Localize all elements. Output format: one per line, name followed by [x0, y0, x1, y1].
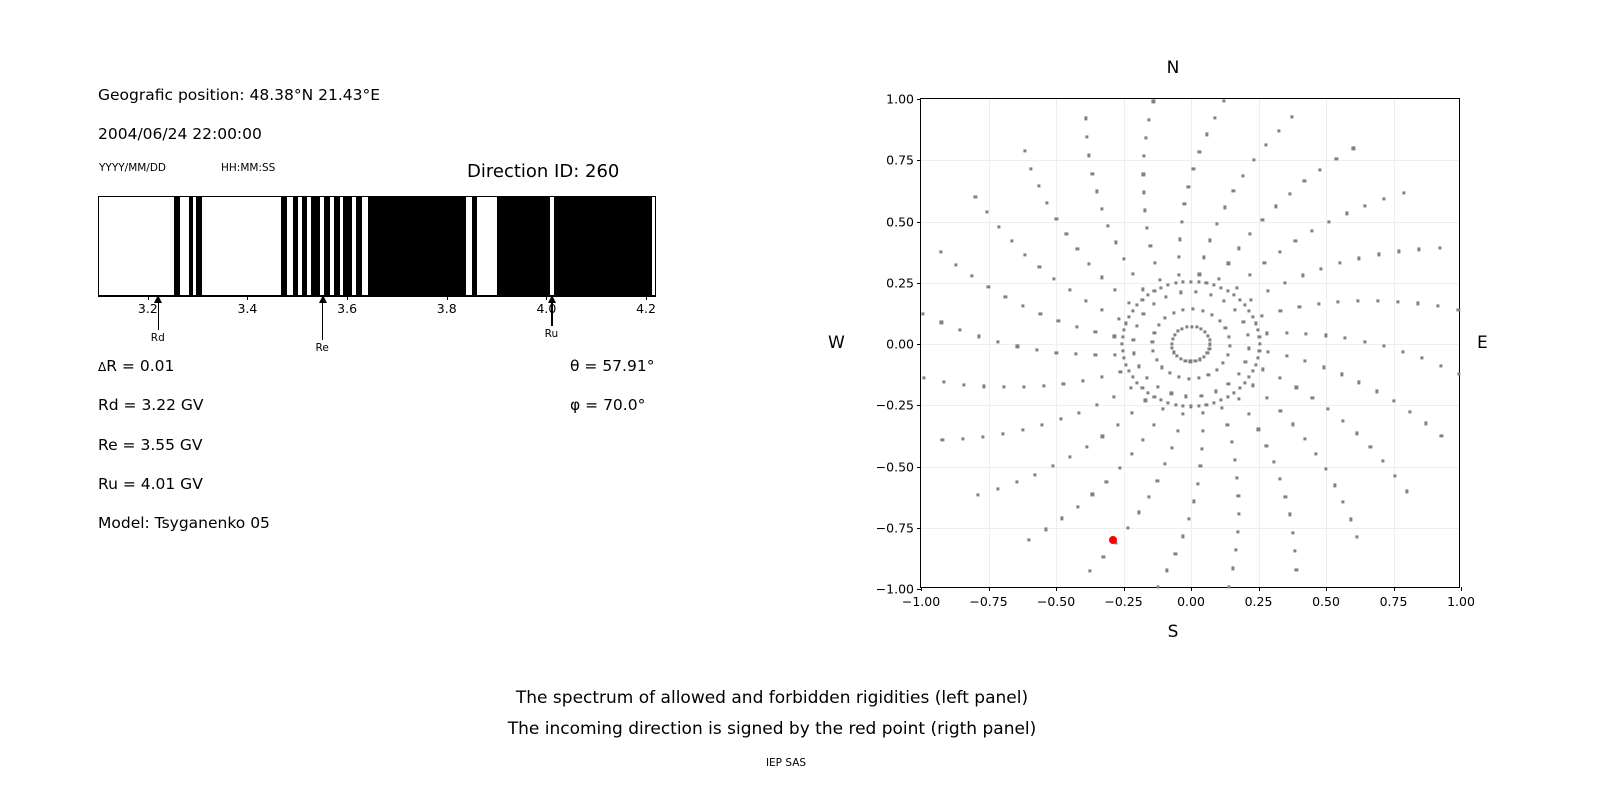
asymptotic-direction-panel: −1.00−0.75−0.50−0.250.000.250.500.751.00…	[0, 0, 1600, 660]
direction-dot	[1230, 441, 1233, 444]
direction-dot	[1185, 325, 1188, 328]
direction-dot	[1236, 530, 1239, 533]
direction-dot	[1136, 303, 1139, 306]
gridline-vertical	[1191, 99, 1192, 587]
plot-y-tick-label: 0.00	[886, 337, 914, 352]
direction-dot	[1114, 241, 1117, 244]
plot-y-tick-label: 0.50	[886, 214, 914, 229]
direction-dot	[1200, 327, 1203, 330]
direction-dot	[1244, 360, 1247, 363]
direction-dot	[1152, 100, 1155, 103]
direction-dot	[1122, 329, 1125, 332]
direction-dot	[1069, 455, 1072, 458]
direction-dot	[1131, 309, 1134, 312]
direction-dot	[1179, 291, 1182, 294]
direction-dot	[1198, 273, 1201, 276]
plot-x-tick	[1124, 587, 1125, 591]
direction-dot	[942, 380, 945, 383]
direction-dot	[1131, 376, 1134, 379]
direction-dot	[1144, 399, 1147, 402]
direction-dot	[1207, 374, 1210, 377]
direction-dot	[1291, 423, 1294, 426]
direction-dot	[1076, 505, 1079, 508]
direction-dot	[1084, 299, 1087, 302]
direction-dot	[1203, 256, 1206, 259]
direction-dot	[1200, 394, 1203, 397]
direction-dot	[1278, 478, 1281, 481]
direction-dot	[1257, 428, 1260, 431]
direction-dot	[1219, 286, 1222, 289]
direction-dot	[1238, 387, 1241, 390]
direction-dot	[1161, 366, 1164, 369]
direction-dot	[1153, 290, 1156, 293]
direction-dot	[1197, 404, 1200, 407]
direction-dot	[1180, 220, 1183, 223]
direction-dot	[1215, 222, 1218, 225]
direction-dot	[1394, 474, 1397, 477]
caption-line-2: The incoming direction is signed by the …	[508, 719, 1037, 739]
direction-dot	[1222, 99, 1225, 102]
direction-dot	[1196, 482, 1199, 485]
direction-dot	[1201, 412, 1204, 415]
direction-dot	[1201, 309, 1204, 312]
direction-dot	[1044, 528, 1047, 531]
direction-dot	[1168, 372, 1171, 375]
direction-dot	[1137, 511, 1140, 514]
plot-x-tick	[1191, 587, 1192, 591]
direction-dot	[1358, 257, 1361, 260]
direction-dot	[1209, 343, 1212, 346]
direction-dot	[1278, 250, 1281, 253]
direction-dot	[1176, 330, 1179, 333]
direction-dot	[1227, 335, 1230, 338]
direction-dot	[1127, 370, 1130, 373]
direction-dot	[1227, 585, 1230, 588]
direction-dot	[1358, 381, 1361, 384]
direction-dot	[1248, 376, 1251, 379]
direction-dot	[1317, 303, 1320, 306]
direction-dot	[1077, 411, 1080, 414]
direction-dot	[1095, 403, 1098, 406]
direction-dot	[1034, 473, 1037, 476]
direction-dot	[1085, 446, 1088, 449]
direction-dot	[1147, 495, 1150, 498]
direction-dot	[1352, 147, 1355, 150]
direction-dot	[1232, 190, 1235, 193]
direction-dot	[1094, 353, 1097, 356]
direction-dot	[1178, 273, 1181, 276]
direction-dot	[1238, 397, 1241, 400]
direction-dot	[1234, 308, 1237, 311]
direction-dot	[997, 225, 1000, 228]
plot-x-tick	[1259, 587, 1260, 591]
direction-dot	[1416, 302, 1419, 305]
direction-dot	[1074, 353, 1077, 356]
direction-dot	[1285, 354, 1288, 357]
direction-dot	[1242, 174, 1245, 177]
direction-dot	[1408, 410, 1411, 413]
direction-dot	[1206, 334, 1209, 337]
direction-dot	[1228, 344, 1231, 347]
plot-x-tick-label: 0.00	[1177, 594, 1205, 609]
direction-dot	[1284, 281, 1287, 284]
direction-dot	[1181, 535, 1184, 538]
direction-dot	[1145, 376, 1148, 379]
direction-dot	[1121, 349, 1124, 352]
direction-dot	[1438, 247, 1441, 250]
direction-dot	[939, 251, 942, 254]
direction-dot	[987, 285, 990, 288]
direction-dot	[1266, 332, 1269, 335]
direction-dot	[1324, 468, 1327, 471]
direction-dot	[1213, 116, 1216, 119]
direction-dot	[1142, 438, 1145, 441]
direction-dot	[1311, 396, 1314, 399]
direction-dot	[1344, 336, 1347, 339]
direction-dot	[1023, 149, 1026, 152]
direction-dot	[1197, 280, 1200, 283]
direction-dot	[1126, 526, 1129, 529]
direction-dot	[1153, 261, 1156, 264]
direction-dot	[941, 438, 944, 441]
direction-dot	[1232, 294, 1235, 297]
direction-dot	[1116, 424, 1119, 427]
direction-dot	[1349, 518, 1352, 521]
direction-dot	[1187, 185, 1190, 188]
direction-dot	[1266, 290, 1269, 293]
direction-dot	[974, 195, 977, 198]
direction-dot	[1203, 355, 1206, 358]
gridline-horizontal	[921, 222, 1459, 223]
direction-dot	[1376, 299, 1379, 302]
direction-dot	[1042, 384, 1045, 387]
direction-dot	[1236, 476, 1239, 479]
direction-dot	[1227, 382, 1230, 385]
direction-dot	[1424, 422, 1427, 425]
direction-dot	[1206, 352, 1209, 355]
direction-dot	[1184, 359, 1187, 362]
direction-dot	[1294, 239, 1297, 242]
direction-dot	[977, 493, 980, 496]
direction-dot	[1324, 334, 1327, 337]
direction-dot	[1164, 316, 1167, 319]
direction-dot	[1176, 429, 1179, 432]
direction-dot	[1263, 261, 1266, 264]
direction-dot	[1170, 342, 1173, 345]
direction-dot	[1249, 232, 1252, 235]
direction-dot	[1355, 432, 1358, 435]
direction-dot	[1254, 363, 1257, 366]
direction-dot	[1257, 356, 1260, 359]
direction-dot	[1205, 133, 1208, 136]
direction-dot	[1173, 333, 1176, 336]
plot-y-tick	[917, 589, 921, 590]
plot-x-tick	[989, 587, 990, 591]
direction-dot	[1095, 190, 1098, 193]
direction-dot	[1237, 494, 1240, 497]
plot-y-tick-label: 0.25	[886, 275, 914, 290]
direction-dot	[1088, 262, 1091, 265]
direction-dot	[1340, 373, 1343, 376]
direction-dot	[1249, 273, 1252, 276]
direction-dot	[1016, 345, 1019, 348]
direction-dot	[1181, 308, 1184, 311]
direction-dot	[1094, 330, 1097, 333]
direction-dot	[1174, 281, 1177, 284]
direction-dot	[1252, 159, 1255, 162]
direction-dot	[1457, 372, 1460, 375]
direction-dot	[1237, 247, 1240, 250]
direction-dot	[1420, 357, 1423, 360]
direction-dot	[1178, 238, 1181, 241]
plot-y-tick-label: −0.75	[876, 520, 914, 535]
direction-dot	[1226, 353, 1229, 356]
direction-dot	[1192, 167, 1195, 170]
direction-dot	[1062, 382, 1065, 385]
direction-dot	[1113, 335, 1116, 338]
direction-dot	[1182, 404, 1185, 407]
direction-dot	[1136, 381, 1139, 384]
direction-dot	[1130, 411, 1133, 414]
direction-dot	[1182, 280, 1185, 283]
direction-dot	[1081, 379, 1084, 382]
plot-y-tick-label: −1.00	[876, 582, 914, 597]
plot-y-tick-label: 1.00	[886, 92, 914, 107]
direction-dot	[1383, 197, 1386, 200]
direction-dot	[1131, 273, 1134, 276]
direction-dot	[1102, 556, 1105, 559]
direction-dot	[1291, 115, 1294, 118]
direction-dot	[997, 340, 1000, 343]
direction-dot	[1060, 517, 1063, 520]
incoming-direction-red-point	[1109, 536, 1117, 544]
direction-dot	[1260, 314, 1263, 317]
direction-dot	[1224, 327, 1227, 330]
direction-dot	[1059, 417, 1062, 420]
direction-dot	[1118, 317, 1121, 320]
direction-dot	[1248, 412, 1251, 415]
direction-dot	[1143, 209, 1146, 212]
direction-dot	[1160, 399, 1163, 402]
direction-dot	[1113, 395, 1116, 398]
direction-dot	[1223, 206, 1226, 209]
plot-x-tick-label: −0.50	[1037, 594, 1075, 609]
gridline-vertical	[1394, 99, 1395, 587]
plot-x-tick-label: 1.00	[1447, 594, 1475, 609]
direction-dot	[1170, 446, 1173, 449]
plot-y-tick	[917, 99, 921, 100]
compass-label-east: E	[1477, 333, 1488, 353]
direction-dot	[1212, 283, 1215, 286]
direction-dot	[1201, 447, 1204, 450]
direction-dot	[1076, 248, 1079, 251]
direction-dot	[1091, 172, 1094, 175]
direction-dot	[1342, 501, 1345, 504]
compass-label-south: S	[1168, 622, 1179, 642]
direction-dot	[982, 385, 985, 388]
direction-dot	[1172, 311, 1175, 314]
direction-dot	[1364, 204, 1367, 207]
direction-dot	[982, 435, 985, 438]
direction-dot	[977, 335, 980, 338]
direction-dot	[1155, 358, 1158, 361]
direction-dot	[1142, 173, 1145, 176]
direction-dot	[1363, 340, 1366, 343]
direction-dot	[985, 211, 988, 214]
direction-dot	[1170, 392, 1173, 395]
direction-dot	[1100, 375, 1103, 378]
direction-dot	[1195, 326, 1198, 329]
direction-dot	[1369, 445, 1372, 448]
direction-dot	[1132, 352, 1135, 355]
direction-dot	[1288, 192, 1291, 195]
direction-dot	[1295, 386, 1298, 389]
direction-dot	[1118, 467, 1121, 470]
direction-dot	[1091, 493, 1094, 496]
direction-dot	[1208, 338, 1211, 341]
direction-dot	[1171, 346, 1174, 349]
direction-dot	[1046, 201, 1049, 204]
plot-y-tick	[917, 528, 921, 529]
gridline-vertical	[1056, 99, 1057, 587]
plot-x-tick	[1326, 587, 1327, 591]
direction-dot	[1180, 327, 1183, 330]
direction-dot	[1024, 253, 1027, 256]
direction-dot	[1197, 377, 1200, 380]
direction-dot	[1187, 377, 1190, 380]
gridline-horizontal	[921, 528, 1459, 529]
direction-dot	[1183, 203, 1186, 206]
direction-dot	[1233, 458, 1236, 461]
direction-dot	[1401, 350, 1404, 353]
direction-dot	[1237, 512, 1240, 515]
direction-dot	[1261, 368, 1264, 371]
direction-dot	[1153, 395, 1156, 398]
direction-dot	[1217, 277, 1220, 280]
direction-dot	[1210, 313, 1213, 316]
direction-dot	[1055, 351, 1058, 354]
direction-dot	[1243, 381, 1246, 384]
direction-dot	[1146, 294, 1149, 297]
direction-dot	[1142, 191, 1145, 194]
direction-dot	[1172, 351, 1175, 354]
direction-dot	[1175, 354, 1178, 357]
direction-dot	[1264, 144, 1267, 147]
plot-x-tick	[1394, 587, 1395, 591]
direction-dot	[1035, 348, 1038, 351]
direction-dot	[1177, 376, 1180, 379]
direction-dot	[1252, 384, 1255, 387]
direction-dot	[1142, 313, 1145, 316]
direction-dot	[1208, 347, 1211, 350]
direction-dot	[1234, 548, 1237, 551]
direction-dot	[1392, 400, 1395, 403]
direction-dot	[1266, 396, 1269, 399]
direction-dot	[1251, 370, 1254, 373]
direction-dot	[1021, 428, 1024, 431]
plot-y-tick	[917, 467, 921, 468]
plot-x-tick-label: 0.25	[1245, 594, 1273, 609]
direction-dot	[1174, 552, 1177, 555]
direction-dot	[1199, 465, 1202, 468]
direction-dot	[1222, 299, 1225, 302]
direction-dot	[1417, 248, 1420, 251]
direction-dot	[1181, 412, 1184, 415]
direction-dot	[1231, 567, 1234, 570]
direction-dot	[1189, 280, 1192, 283]
direction-dot	[961, 437, 964, 440]
direction-dot	[1250, 299, 1253, 302]
direction-dot	[1171, 337, 1174, 340]
direction-dot	[1247, 347, 1250, 350]
direction-dot	[1087, 154, 1090, 157]
direction-dot	[1382, 459, 1385, 462]
direction-dot	[1246, 333, 1249, 336]
direction-dot	[1320, 267, 1323, 270]
direction-dot	[1003, 386, 1006, 389]
direction-dot	[1143, 155, 1146, 158]
direction-dot	[1192, 307, 1195, 310]
direction-dot	[1235, 286, 1238, 289]
caption-line-1: The spectrum of allowed and forbidden ri…	[516, 688, 1028, 708]
direction-dot	[1135, 325, 1138, 328]
direction-dot	[1310, 229, 1313, 232]
direction-dot	[1303, 180, 1306, 183]
direction-dot	[1189, 405, 1192, 408]
direction-dot	[1141, 298, 1144, 301]
direction-dot	[1277, 129, 1280, 132]
direction-dot	[1040, 423, 1043, 426]
direction-dot	[1226, 423, 1229, 426]
direction-dot	[1258, 335, 1261, 338]
direction-dot	[1314, 452, 1317, 455]
direction-dot	[1121, 342, 1124, 345]
direction-dot	[1396, 300, 1399, 303]
direction-dot	[1285, 332, 1288, 335]
direction-dot	[1198, 150, 1201, 153]
direction-dot	[1161, 408, 1164, 411]
direction-dot	[1021, 304, 1024, 307]
plot-x-tick-label: 0.75	[1380, 594, 1408, 609]
direction-dot	[1199, 358, 1202, 361]
direction-dot	[1265, 444, 1268, 447]
direction-dot	[1141, 387, 1144, 390]
direction-dot	[1101, 308, 1104, 311]
direction-dot	[1068, 289, 1071, 292]
polar-scatter-plot: −1.00−0.75−0.50−0.250.000.250.500.751.00…	[920, 98, 1460, 588]
direction-dot	[1326, 407, 1329, 410]
direction-dot	[1226, 290, 1229, 293]
direction-dot	[1190, 325, 1193, 328]
direction-dot	[1153, 332, 1156, 335]
direction-dot	[1158, 278, 1161, 281]
direction-dot	[1377, 253, 1380, 256]
direction-dot	[954, 263, 957, 266]
direction-dot	[1291, 531, 1294, 534]
direction-dot	[1194, 359, 1197, 362]
plot-y-tick-label: −0.50	[876, 459, 914, 474]
direction-dot	[1219, 399, 1222, 402]
direction-dot	[1237, 372, 1240, 375]
direction-dot	[1278, 376, 1281, 379]
direction-dot	[1124, 322, 1127, 325]
direction-dot	[1254, 322, 1257, 325]
direction-dot	[1100, 276, 1103, 279]
compass-label-north: N	[1167, 58, 1180, 78]
direction-dot	[1015, 481, 1018, 484]
direction-dot	[940, 321, 943, 324]
direction-dot	[1356, 535, 1359, 538]
